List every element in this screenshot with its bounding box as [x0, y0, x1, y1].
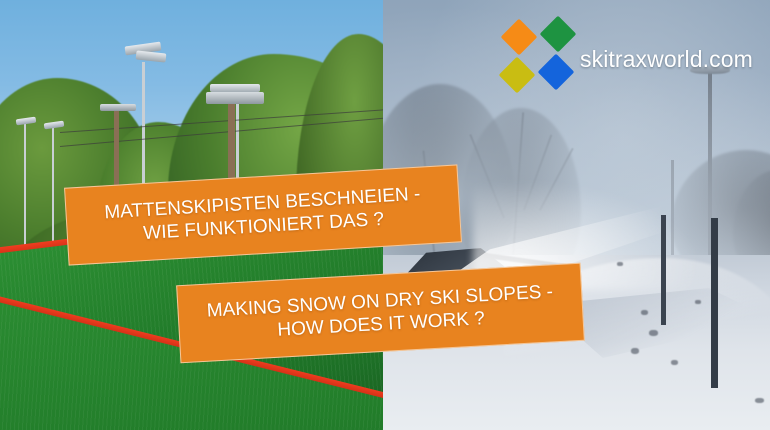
snow-debris — [695, 300, 701, 304]
snow-debris — [617, 262, 623, 266]
slope-pole — [661, 215, 666, 325]
chairlift-chair — [274, 138, 300, 170]
chairlift-pylon-head — [100, 104, 136, 111]
chairlift-chair — [244, 130, 268, 160]
image-canvas: skitraxworld.com MATTENSKIPISTEN BESCHNE… — [0, 0, 770, 430]
chairlift-chair — [210, 128, 232, 156]
chairlift-pylon-head — [210, 84, 260, 92]
snow-debris — [641, 310, 648, 315]
snow-debris — [649, 330, 658, 336]
snow-debris — [671, 360, 678, 365]
chairlift-chair — [132, 128, 154, 156]
site-logo[interactable]: skitraxworld.com — [498, 18, 768, 110]
logo-wordmark: skitraxworld.com — [580, 46, 753, 73]
logo-diamond-yellow-icon — [499, 57, 536, 94]
chairlift-chair — [172, 130, 194, 158]
chairlift-chair — [96, 132, 116, 158]
logo-diamond-blue-icon — [538, 54, 575, 91]
slope-pole — [711, 218, 718, 388]
chairlift-chair — [62, 130, 82, 156]
logo-diamond-orange-icon — [501, 19, 538, 56]
chairlift-pylon-head — [206, 92, 264, 104]
logo-diamond-green-icon — [540, 16, 577, 53]
snow-debris — [631, 348, 639, 354]
snow-debris — [755, 398, 764, 403]
